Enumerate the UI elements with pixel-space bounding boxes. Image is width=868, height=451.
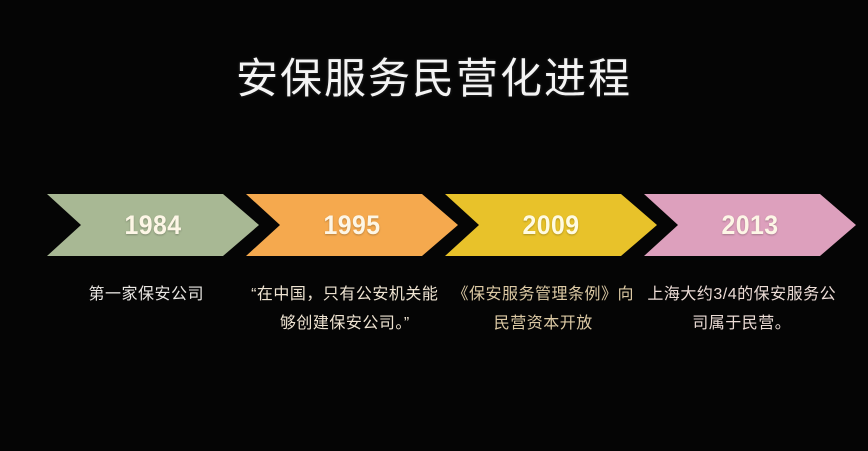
caption-2013: 上海大约3/4的保安服务公司属于民营。 [643,280,842,338]
page-title-text: 安保服务民营化进程 [236,56,632,102]
timeline-segment-1995[interactable]: 1995 [246,194,458,256]
year-label-1995: 1995 [323,210,380,241]
timeline-segment-2009[interactable]: 2009 [445,194,657,256]
year-label-1984: 1984 [124,210,181,241]
caption-row: 第一家保安公司 “在中国，只有公安机关能够创建保安公司。” 《保安服务管理条例》… [47,280,841,338]
timeline-segment-1984[interactable]: 1984 [47,194,259,256]
infographic-canvas: 安保服务民营化进程 1984 1995 2009 2013 第一家保安公司 “在… [0,0,868,451]
timeline-segment-2013[interactable]: 2013 [644,194,856,256]
caption-2009: 《保安服务管理条例》向民营资本开放 [444,280,643,338]
year-label-2009: 2009 [522,210,579,241]
caption-1984: 第一家保安公司 [47,280,246,338]
year-label-2013: 2013 [721,210,778,241]
timeline-chevron-band: 1984 1995 2009 2013 [47,194,841,256]
page-title: 安保服务民营化进程 [0,56,868,102]
caption-1995: “在中国，只有公安机关能够创建保安公司。” [246,280,445,338]
